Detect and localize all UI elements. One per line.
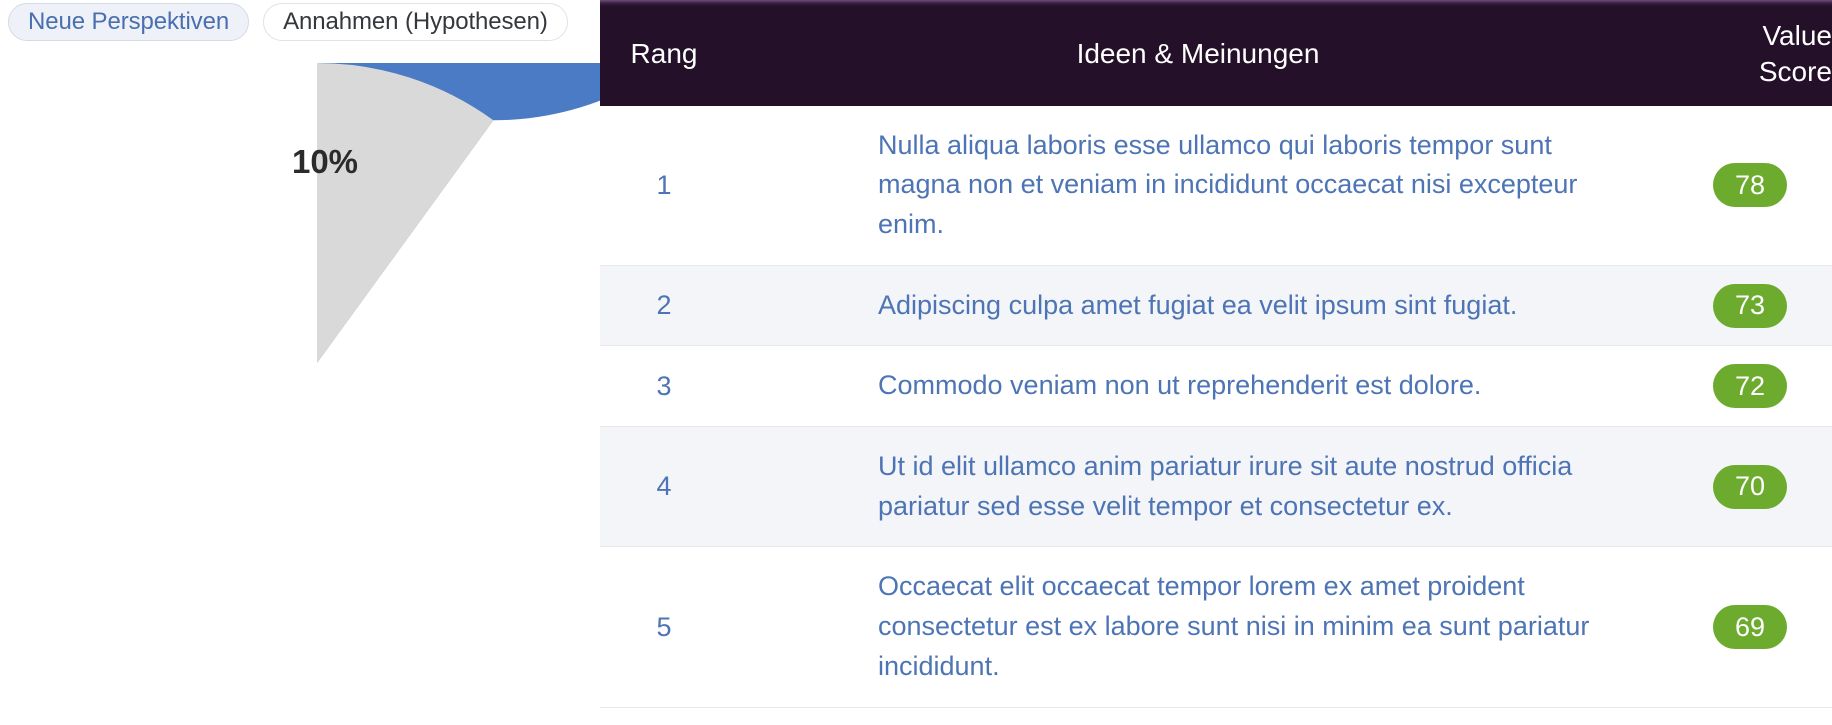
cell-rank: 5 — [600, 547, 728, 707]
cell-idea: Adipiscing culpa amet fugiat ea velit ip… — [728, 265, 1668, 346]
cell-score: 70 — [1668, 427, 1832, 547]
ranking-table: Rang Ideen & Meinungen Value Score 1 Nul… — [600, 0, 1832, 708]
table-row[interactable]: 2 Adipiscing culpa amet fugiat ea velit … — [600, 265, 1832, 346]
pie-label-90: 90% — [186, 545, 252, 582]
score-badge: 78 — [1713, 163, 1787, 207]
cell-score: 72 — [1668, 346, 1832, 427]
cell-score: 73 — [1668, 265, 1832, 346]
table-row[interactable]: 3 Commodo veniam non ut reprehenderit es… — [600, 346, 1832, 427]
pie-chart: 90% 10% — [17, 63, 600, 663]
tag-row: Neue Perspektiven Annahmen (Hypothesen) — [8, 3, 568, 41]
cell-rank: 2 — [600, 265, 728, 346]
table-row[interactable]: 5 Occaecat elit occaecat tempor lorem ex… — [600, 547, 1832, 707]
tag-neue-perspektiven[interactable]: Neue Perspektiven — [8, 3, 249, 41]
score-badge: 69 — [1713, 605, 1787, 649]
cell-rank: 1 — [600, 106, 728, 266]
pie-chart-svg: 90% 10% — [17, 63, 600, 663]
cell-score: 69 — [1668, 547, 1832, 707]
cell-idea: Occaecat elit occaecat tempor lorem ex a… — [728, 547, 1668, 707]
screenshot-root: Neue Perspektiven Annahmen (Hypothesen) … — [0, 0, 1832, 725]
table-head: Rang Ideen & Meinungen Value Score — [600, 0, 1832, 106]
table-header-row: Rang Ideen & Meinungen Value Score — [600, 0, 1832, 106]
value-score-line1: Value — [1762, 20, 1832, 51]
cell-rank: 3 — [600, 346, 728, 427]
cell-score: 78 — [1668, 106, 1832, 266]
score-badge: 73 — [1713, 284, 1787, 328]
ranking-table-panel: Rang Ideen & Meinungen Value Score 1 Nul… — [600, 0, 1832, 725]
cell-idea: Commodo veniam non ut reprehenderit est … — [728, 346, 1668, 427]
column-header-ideas[interactable]: Ideen & Meinungen — [728, 0, 1668, 106]
score-badge: 70 — [1713, 465, 1787, 509]
table-row[interactable]: 4 Ut id elit ullamco anim pariatur irure… — [600, 427, 1832, 547]
table-body: 1 Nulla aliqua laboris esse ullamco qui … — [600, 106, 1832, 707]
cell-idea: Ut id elit ullamco anim pariatur irure s… — [728, 427, 1668, 547]
pie-slice-annahmen — [317, 63, 493, 363]
column-header-value-score[interactable]: Value Score — [1668, 0, 1832, 106]
cell-rank: 4 — [600, 427, 728, 547]
cell-idea: Nulla aliqua laboris esse ullamco qui la… — [728, 106, 1668, 266]
pie-label-10: 10% — [292, 143, 358, 180]
score-badge: 72 — [1713, 364, 1787, 408]
chart-panel: Neue Perspektiven Annahmen (Hypothesen) … — [0, 0, 600, 725]
column-header-rank[interactable]: Rang — [600, 0, 728, 106]
tag-annahmen-hypothesen[interactable]: Annahmen (Hypothesen) — [263, 3, 568, 41]
table-row[interactable]: 1 Nulla aliqua laboris esse ullamco qui … — [600, 106, 1832, 266]
value-score-line2: Score — [1759, 56, 1832, 87]
